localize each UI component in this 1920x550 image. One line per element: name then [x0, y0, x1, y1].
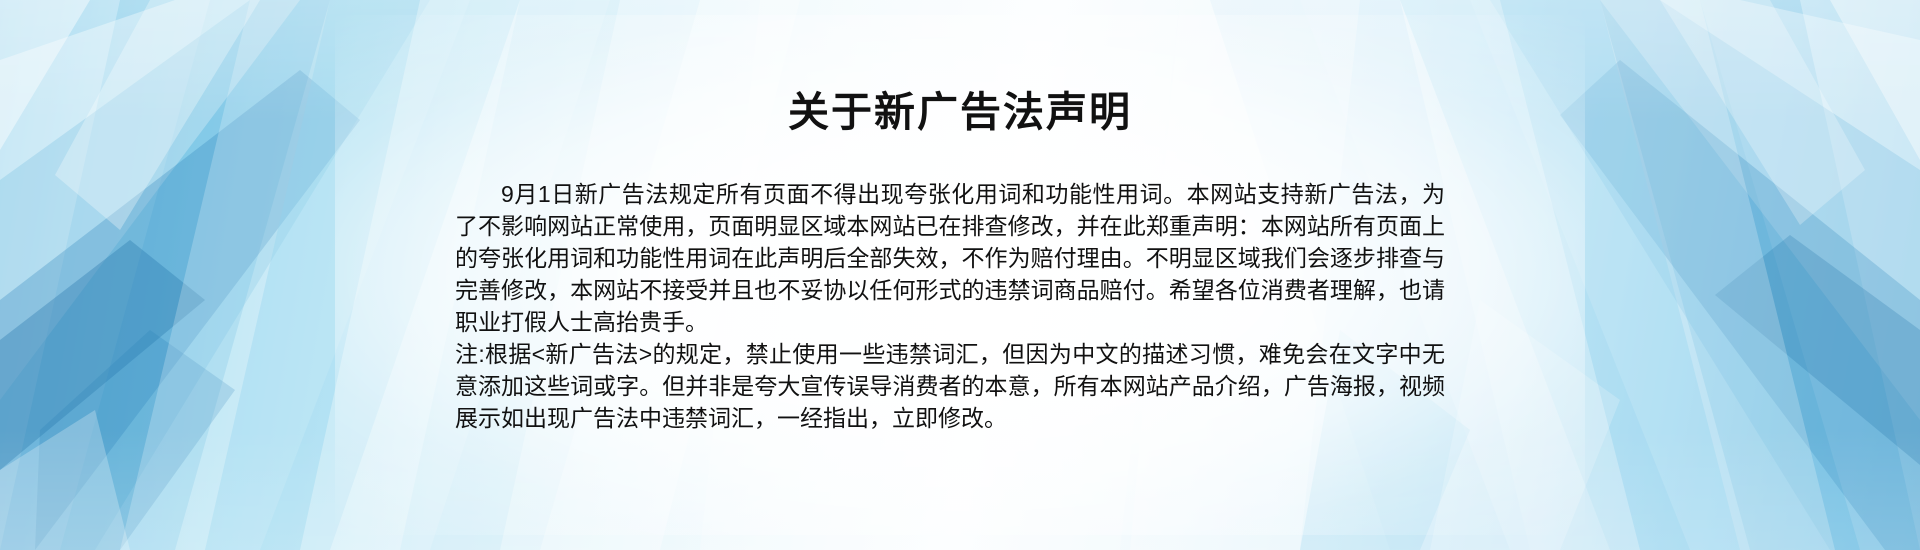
- paragraph-note: 注:根据<新广告法>的规定，禁止使用一些违禁词汇，但因为中文的描述习惯，难免会在…: [455, 338, 1445, 434]
- statement-content: 关于新广告法声明 9月1日新广告法规定所有页面不得出现夸张化用词和功能性用词。本…: [0, 0, 1920, 550]
- advertising-law-statement-banner: 关于新广告法声明 9月1日新广告法规定所有页面不得出现夸张化用词和功能性用词。本…: [0, 0, 1920, 550]
- page-title: 关于新广告法声明: [0, 88, 1920, 137]
- paragraph-statement: 9月1日新广告法规定所有页面不得出现夸张化用词和功能性用词。本网站支持新广告法，…: [455, 178, 1445, 338]
- statement-body: 9月1日新广告法规定所有页面不得出现夸张化用词和功能性用词。本网站支持新广告法，…: [455, 178, 1445, 434]
